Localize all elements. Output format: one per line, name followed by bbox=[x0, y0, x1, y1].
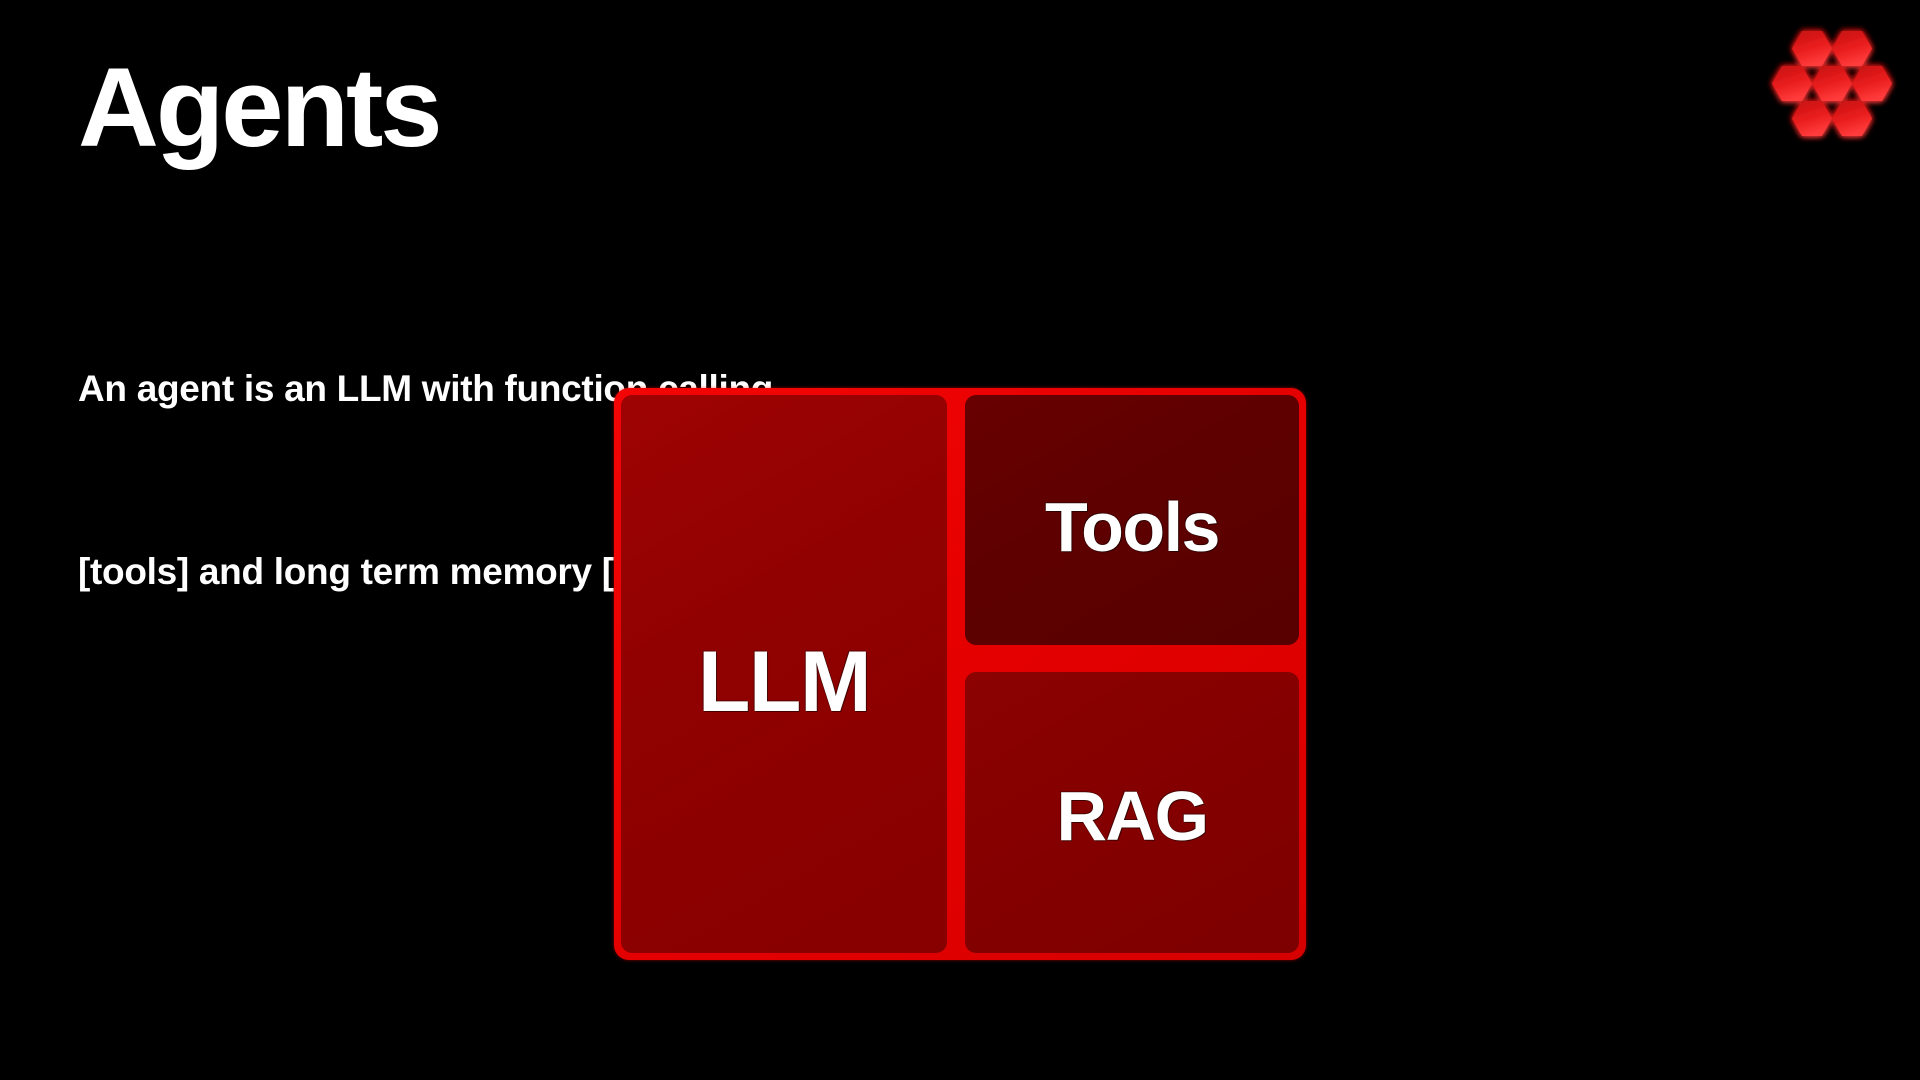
agent-architecture-diagram: LLM Tools RAG bbox=[614, 388, 1306, 960]
diagram-panel-rag[interactable]: RAG bbox=[965, 672, 1299, 953]
diagram-panel-rag-label: RAG bbox=[1056, 781, 1207, 851]
diagram-right-column: Tools RAG bbox=[965, 395, 1299, 953]
diagram-panel-tools-label: Tools bbox=[1045, 492, 1219, 562]
diagram-panel-llm[interactable]: LLM bbox=[621, 395, 947, 953]
page-title: Agents bbox=[78, 52, 440, 164]
diagram-panel-llm-label: LLM bbox=[698, 639, 870, 725]
slide-root: Agents An agent is an LLM with function … bbox=[0, 0, 1920, 1080]
hexagon-cluster-logo bbox=[1762, 22, 1902, 147]
diagram-panel-tools[interactable]: Tools bbox=[965, 395, 1299, 645]
